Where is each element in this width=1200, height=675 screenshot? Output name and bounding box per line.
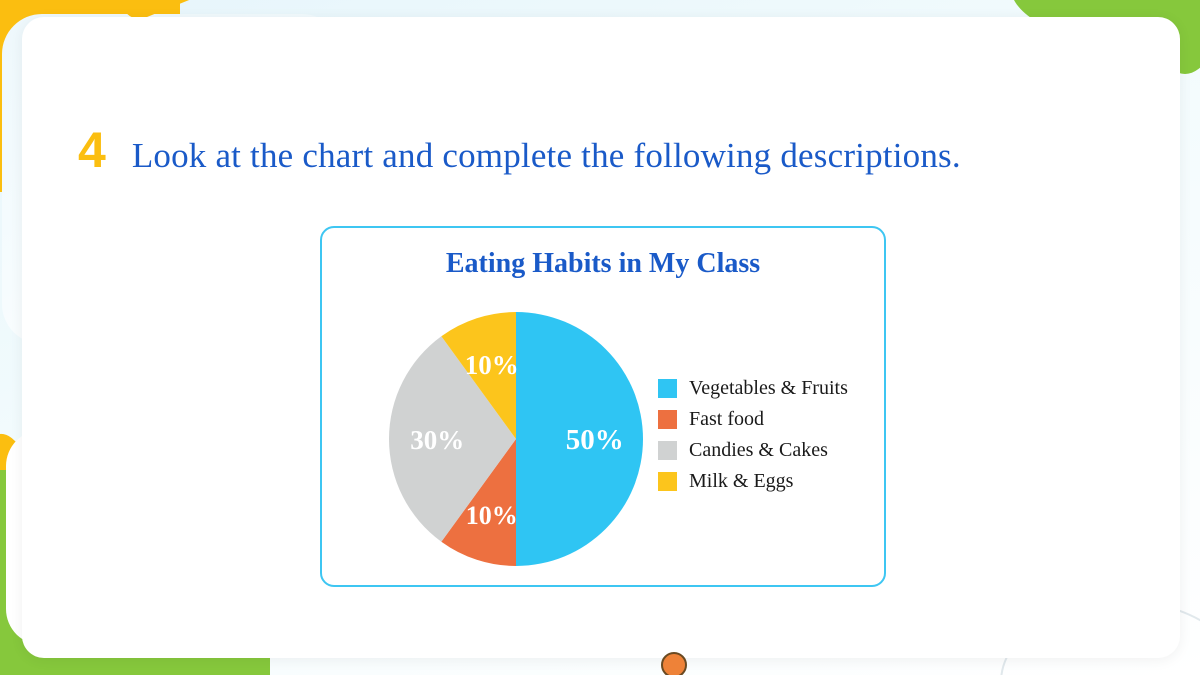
chart-container: Eating Habits in My Class 50% 10% 30% 10… bbox=[320, 226, 886, 587]
legend-swatch-icon bbox=[658, 379, 677, 398]
legend-label: Fast food bbox=[689, 408, 764, 431]
pie-label-candies-cakes: 30% bbox=[410, 425, 464, 455]
slide-canvas: 4 Look at the chart and complete the fol… bbox=[0, 0, 1200, 675]
question-instruction: Look at the chart and complete the follo… bbox=[132, 138, 961, 173]
orange-dot-decor bbox=[661, 652, 687, 675]
legend-swatch-icon bbox=[658, 441, 677, 460]
pie-label-vegetables-fruits: 50% bbox=[566, 424, 624, 456]
legend-item: Vegetables & Fruits bbox=[658, 376, 848, 401]
legend-label: Candies & Cakes bbox=[689, 439, 828, 462]
pie-chart: 50% 10% 30% 10% bbox=[387, 310, 645, 568]
legend-label: Vegetables & Fruits bbox=[689, 377, 848, 400]
legend-label: Milk & Eggs bbox=[689, 470, 793, 493]
legend-swatch-icon bbox=[658, 472, 677, 491]
pie-label-fast-food: 10% bbox=[466, 501, 518, 530]
chart-legend: Vegetables & Fruits Fast food Candies & … bbox=[658, 376, 848, 494]
legend-swatch-icon bbox=[658, 410, 677, 429]
legend-item: Milk & Eggs bbox=[658, 469, 848, 494]
chart-title: Eating Habits in My Class bbox=[322, 248, 884, 280]
legend-item: Fast food bbox=[658, 407, 848, 432]
pie-chart-svg: 50% 10% 30% 10% bbox=[387, 310, 645, 568]
question-heading: 4 Look at the chart and complete the fol… bbox=[78, 125, 961, 175]
pie-label-milk-eggs: 10% bbox=[465, 350, 519, 380]
question-number: 4 bbox=[78, 125, 106, 175]
legend-item: Candies & Cakes bbox=[658, 438, 848, 463]
